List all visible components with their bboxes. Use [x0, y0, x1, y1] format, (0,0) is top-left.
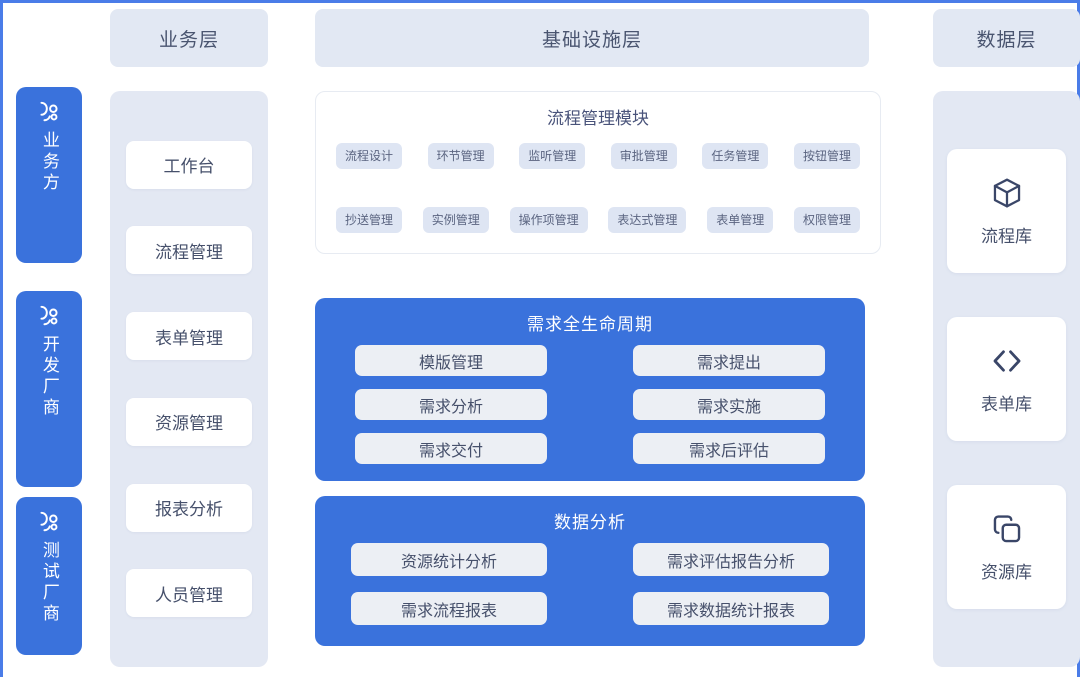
lifecycle-template-mgmt[interactable]: 模版管理: [355, 345, 547, 376]
business-item-resource-mgmt[interactable]: 资源管理: [126, 398, 252, 446]
analysis-resource-statistics[interactable]: 资源统计分析: [351, 543, 547, 576]
business-layer-panel: 工作台 流程管理 表单管理 资源管理 报表分析 人员管理: [110, 91, 268, 667]
data-store-process-library[interactable]: 流程库: [947, 149, 1066, 273]
chip-operation-mgmt[interactable]: 操作项管理: [510, 207, 588, 233]
chip-button-mgmt[interactable]: 按钮管理: [794, 143, 860, 169]
chip-node-mgmt[interactable]: 环节管理: [428, 143, 494, 169]
actor-label: 测试厂商: [40, 541, 58, 625]
data-store-label: 流程库: [981, 222, 1032, 247]
analysis-requirement-data-report[interactable]: 需求数据统计报表: [633, 592, 829, 625]
business-item-report-analysis[interactable]: 报表分析: [126, 484, 252, 532]
header-infrastructure-layer: 基础设施层: [315, 9, 869, 67]
requirement-lifecycle-panel: 需求全生命周期 模版管理 需求提出 需求分析 需求实施 需求交付 需求后评估: [315, 298, 865, 481]
chip-cc-mgmt[interactable]: 抄送管理: [336, 207, 402, 233]
users-icon: [36, 95, 62, 129]
actor-test-vendor[interactable]: 测试厂商: [16, 497, 82, 655]
architecture-diagram: 业务方 开发厂商 测试厂商: [0, 0, 1080, 677]
data-layer-panel: 流程库 表单库 资源库: [933, 91, 1080, 667]
analysis-evaluation-report[interactable]: 需求评估报告分析: [633, 543, 829, 576]
data-store-label: 表单库: [981, 390, 1032, 415]
chip-permission-mgmt[interactable]: 权限管理: [794, 207, 860, 233]
chip-approval-mgmt[interactable]: 审批管理: [611, 143, 677, 169]
business-layer-list: 工作台 流程管理 表单管理 资源管理 报表分析 人员管理: [110, 91, 268, 667]
lifecycle-title: 需求全生命周期: [315, 298, 865, 335]
process-module-row-1: 流程设计 环节管理 监听管理 审批管理 任务管理 按钮管理: [316, 143, 880, 169]
chip-instance-mgmt[interactable]: 实例管理: [423, 207, 489, 233]
users-icon: [36, 299, 62, 333]
lifecycle-grid: 模版管理 需求提出 需求分析 需求实施 需求交付 需求后评估: [315, 345, 865, 464]
module-title: 流程管理模块: [316, 92, 880, 129]
data-store-form-library[interactable]: 表单库: [947, 317, 1066, 441]
code-brackets-icon: [990, 344, 1024, 378]
business-item-staff-mgmt[interactable]: 人员管理: [126, 569, 252, 617]
data-store-resource-library[interactable]: 资源库: [947, 485, 1066, 609]
data-analysis-panel: 数据分析 资源统计分析 需求评估报告分析 需求流程报表 需求数据统计报表: [315, 496, 865, 646]
actor-business-party[interactable]: 业务方: [16, 87, 82, 263]
data-layer-list: 流程库 表单库 资源库: [933, 91, 1080, 667]
actor-label: 业务方: [40, 131, 58, 194]
data-analysis-grid: 资源统计分析 需求评估报告分析 需求流程报表 需求数据统计报表: [315, 543, 865, 625]
chip-process-design[interactable]: 流程设计: [336, 143, 402, 169]
users-icon: [36, 505, 62, 539]
analysis-requirement-process-report[interactable]: 需求流程报表: [351, 592, 547, 625]
lifecycle-requirement-delivery[interactable]: 需求交付: [355, 433, 547, 464]
lifecycle-requirement-raise[interactable]: 需求提出: [633, 345, 825, 376]
lifecycle-requirement-analysis[interactable]: 需求分析: [355, 389, 547, 420]
actor-label: 开发厂商: [40, 335, 58, 419]
business-item-process-mgmt[interactable]: 流程管理: [126, 226, 252, 274]
actor-rail: 业务方 开发厂商 测试厂商: [6, 3, 94, 680]
lifecycle-requirement-implement[interactable]: 需求实施: [633, 389, 825, 420]
chip-listener-mgmt[interactable]: 监听管理: [519, 143, 585, 169]
header-business-layer: 业务层: [110, 9, 268, 67]
chip-form-mgmt[interactable]: 表单管理: [707, 207, 773, 233]
process-module-row-2: 抄送管理 实例管理 操作项管理 表达式管理 表单管理 权限管理: [316, 207, 880, 233]
infrastructure-layer-panel: 流程管理模块 流程设计 环节管理 监听管理 审批管理 任务管理 按钮管理 抄送管…: [315, 91, 881, 667]
actor-dev-vendor[interactable]: 开发厂商: [16, 291, 82, 487]
lifecycle-post-evaluation[interactable]: 需求后评估: [633, 433, 825, 464]
header-data-layer: 数据层: [933, 9, 1080, 67]
business-item-workbench[interactable]: 工作台: [126, 141, 252, 189]
business-item-form-mgmt[interactable]: 表单管理: [126, 312, 252, 360]
copy-icon: [990, 512, 1024, 546]
process-management-module: 流程管理模块 流程设计 环节管理 监听管理 审批管理 任务管理 按钮管理 抄送管…: [315, 91, 881, 254]
chip-expression-mgmt[interactable]: 表达式管理: [608, 207, 686, 233]
cube-icon: [990, 176, 1024, 210]
data-store-label: 资源库: [981, 558, 1032, 583]
chip-task-mgmt[interactable]: 任务管理: [702, 143, 768, 169]
data-analysis-title: 数据分析: [315, 496, 865, 533]
